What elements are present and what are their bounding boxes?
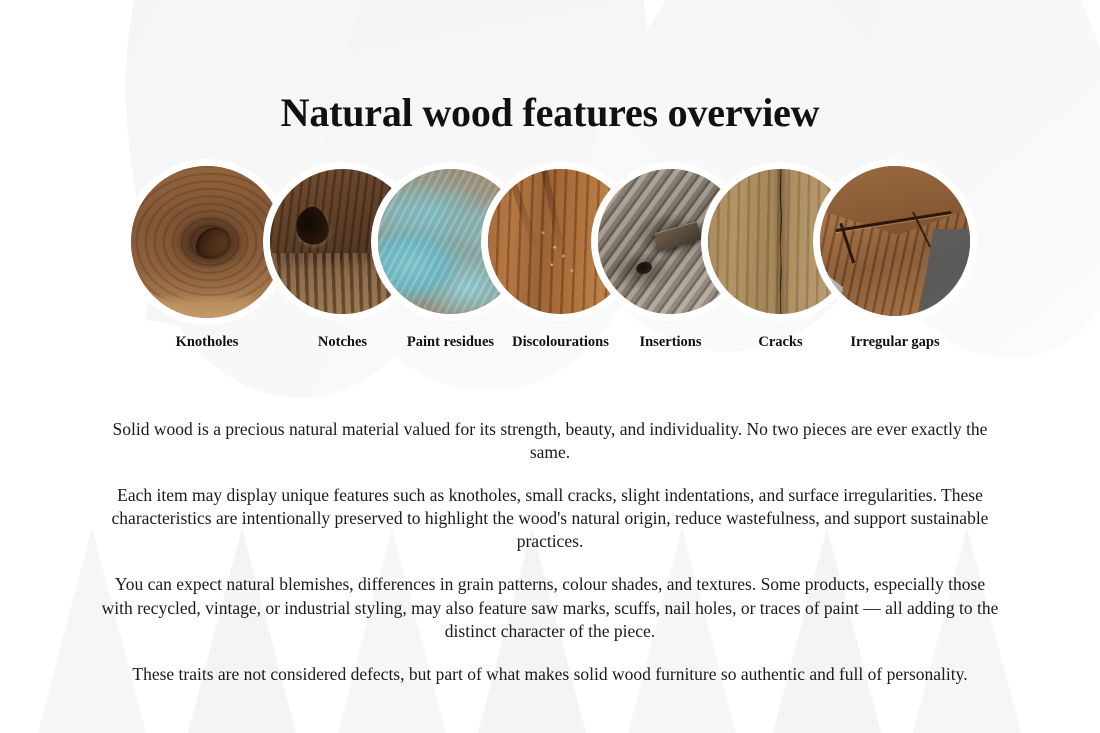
feature-label-paint-residues: Paint residues — [407, 334, 494, 351]
infographic-page: Natural wood features overview Knotholes… — [0, 0, 1100, 733]
page-title: Natural wood features overview — [0, 89, 1100, 136]
body-paragraph-2: Each item may display unique features su… — [95, 484, 1005, 553]
feature-strip: Knotholes Notches Paint residues Discolo… — [0, 166, 1100, 361]
feature-item-knotholes: Knotholes — [131, 166, 283, 318]
feature-label-knotholes: Knotholes — [176, 334, 239, 351]
body-paragraph-1: Solid wood is a precious natural materia… — [95, 418, 1005, 464]
body-copy: Solid wood is a precious natural materia… — [95, 418, 1005, 686]
feature-item-irregular-gaps: Irregular gaps — [820, 166, 970, 316]
feature-label-cracks: Cracks — [758, 334, 802, 351]
feature-label-discolourations: Discolourations — [512, 334, 609, 351]
wood-irregular-gap-circle-icon — [820, 166, 970, 316]
wood-knothole-circle-icon — [131, 166, 283, 318]
body-paragraph-4: These traits are not considered defects,… — [95, 663, 1005, 686]
feature-label-insertions: Insertions — [639, 334, 701, 351]
body-paragraph-3: You can expect natural blemishes, differ… — [95, 573, 1005, 642]
feature-label-notches: Notches — [318, 334, 367, 351]
feature-label-irregular-gaps: Irregular gaps — [850, 334, 939, 351]
